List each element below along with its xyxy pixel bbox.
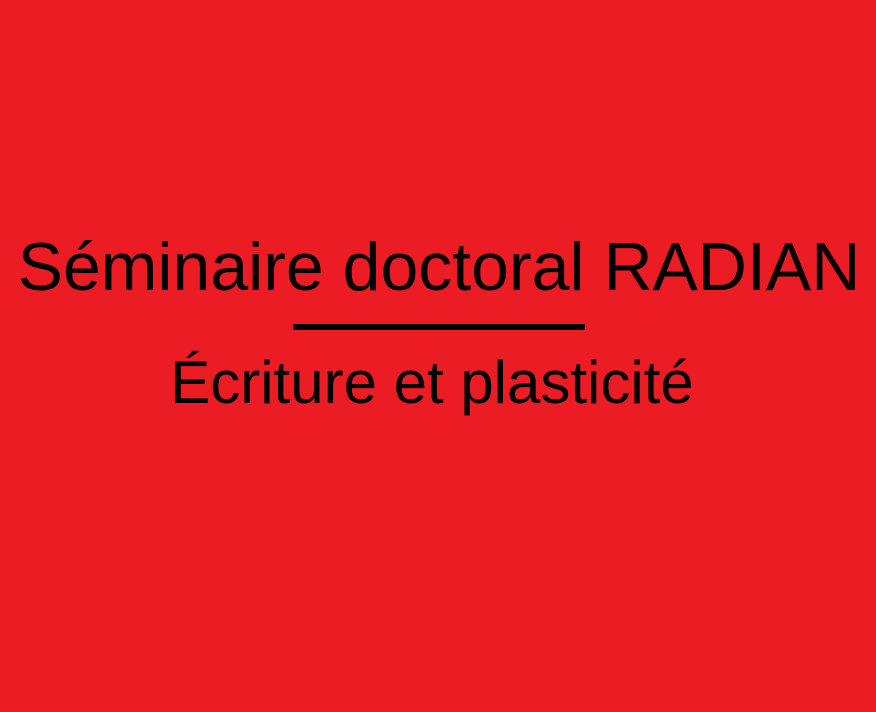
divider-container bbox=[0, 306, 876, 348]
slide-title: Séminaire doctoral RADIAN bbox=[18, 228, 861, 306]
divider-rule bbox=[293, 324, 585, 330]
slide-subtitle: Écriture et plasticité bbox=[170, 348, 694, 418]
slide-content-block: Séminaire doctoral RADIAN Écriture et pl… bbox=[0, 228, 876, 418]
title-slide: Séminaire doctoral RADIAN Écriture et pl… bbox=[0, 0, 876, 712]
